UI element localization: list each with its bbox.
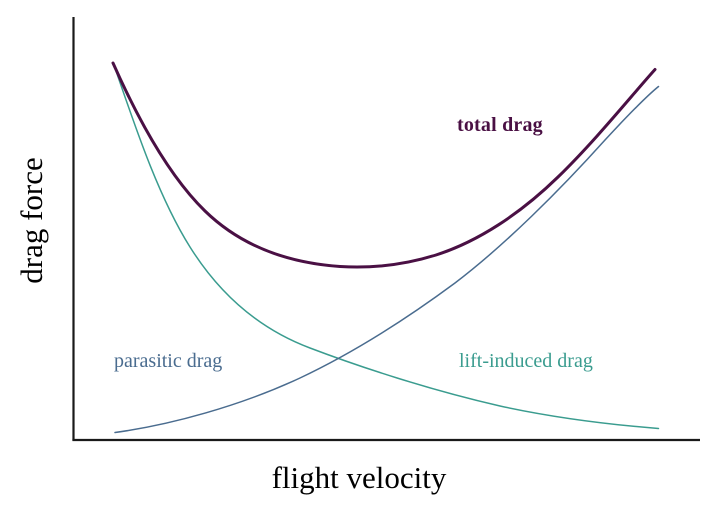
y-axis-title-text: drag force — [16, 157, 47, 284]
x-axis-title-text: flight velocity — [272, 460, 447, 495]
series-line-total-drag — [113, 63, 655, 267]
drag-force-chart-figure: drag force flight velocity total drag pa… — [0, 0, 718, 512]
y-axis-title: drag force — [0, 0, 62, 440]
series-label-total-drag: total drag — [457, 115, 543, 135]
series-line-lift-induced-drag — [115, 67, 659, 429]
plot-area — [0, 0, 718, 512]
series-label-parasitic-drag: parasitic drag — [114, 351, 222, 371]
series-label-lift-induced-drag: lift-induced drag — [459, 351, 593, 371]
x-axis-title: flight velocity — [0, 462, 718, 493]
series-line-parasitic-drag — [115, 87, 659, 433]
